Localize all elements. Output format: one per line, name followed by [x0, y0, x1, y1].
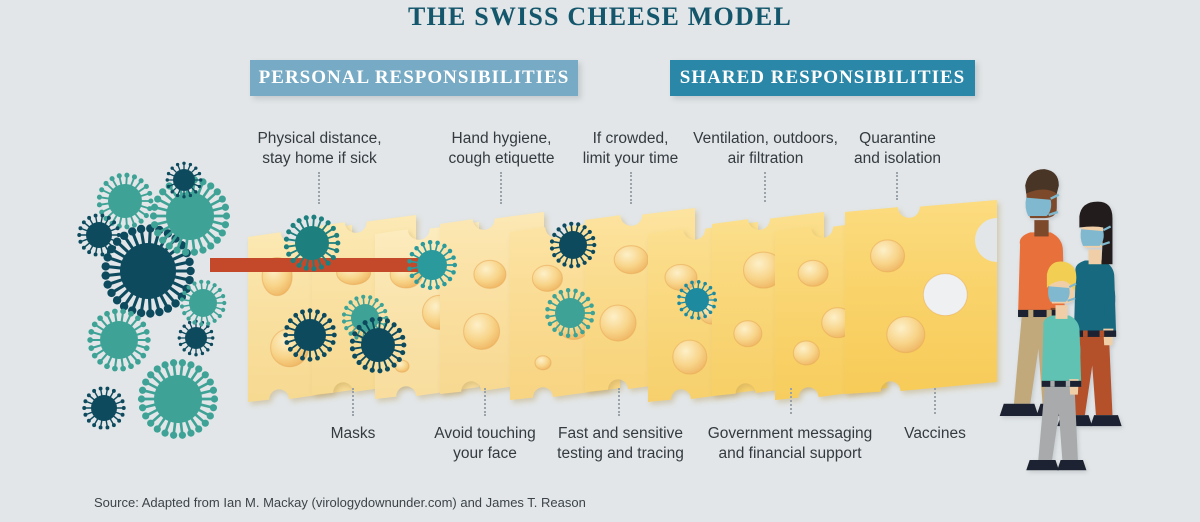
cheese-hole: [614, 246, 648, 274]
cheese-hole: [665, 264, 697, 290]
label-connector-line: [318, 172, 322, 204]
cheese-hole: [535, 356, 551, 370]
label-connector-line: [618, 388, 622, 416]
layer-label: Masks: [308, 424, 398, 444]
virus-particle: [166, 162, 203, 199]
virus-particle: [82, 387, 125, 430]
label-connector-line: [934, 388, 938, 414]
label-connector-line: [352, 388, 356, 416]
virus-particle: [87, 309, 150, 372]
layer-label: Vaccines: [890, 424, 980, 444]
layer-label: Quarantine and isolation: [844, 129, 951, 169]
label-connector-line: [790, 388, 794, 414]
infection-arrow: [210, 258, 424, 272]
cheese-hole: [464, 313, 500, 349]
layer-label: Avoid touching your face: [420, 424, 550, 464]
cheese-hole: [793, 341, 819, 365]
cheese-hole: [798, 260, 828, 286]
infection-arrow-layer: [210, 258, 424, 272]
cheese-hole: [871, 240, 905, 272]
cheese-hole: [887, 317, 925, 353]
label-connector-line: [896, 172, 900, 200]
virus-particle: [97, 173, 153, 230]
cheese-hole: [474, 260, 506, 288]
layer-label: Physical distance, stay home if sick: [247, 129, 392, 169]
cheese-hole: [673, 340, 707, 374]
slice-10-vaccines: [845, 200, 997, 394]
cheese-hole: [532, 265, 562, 291]
people-group: [1000, 169, 1122, 470]
virus-particle: [138, 359, 218, 439]
label-connector-line: [764, 172, 768, 202]
infographic-canvas: THE SWISS CHEESE MODEL PERSONAL RESPONSI…: [0, 0, 1200, 522]
layer-label: If crowded, limit your time: [572, 129, 689, 169]
source-citation: Source: Adapted from Ian M. Mackay (viro…: [94, 495, 586, 510]
cheese-hole: [734, 321, 762, 347]
free-virus-cloud: [77, 162, 230, 439]
layer-label: Fast and sensitive testing and tracing: [548, 424, 693, 464]
cheese-slice-stack: [248, 200, 997, 402]
layer-label: Government messaging and financial suppo…: [700, 424, 880, 464]
cheese-hole: [600, 305, 636, 341]
virus-particle: [180, 280, 226, 327]
cheese-hole-through: [923, 274, 967, 316]
label-connector-line: [500, 172, 504, 204]
cheese-hole: [395, 360, 409, 372]
layer-label: Ventilation, outdoors, air filtration: [688, 129, 843, 169]
label-connector-line: [484, 388, 488, 416]
layer-label: Hand hygiene, cough etiquette: [435, 129, 568, 169]
label-connector-line: [630, 172, 634, 204]
